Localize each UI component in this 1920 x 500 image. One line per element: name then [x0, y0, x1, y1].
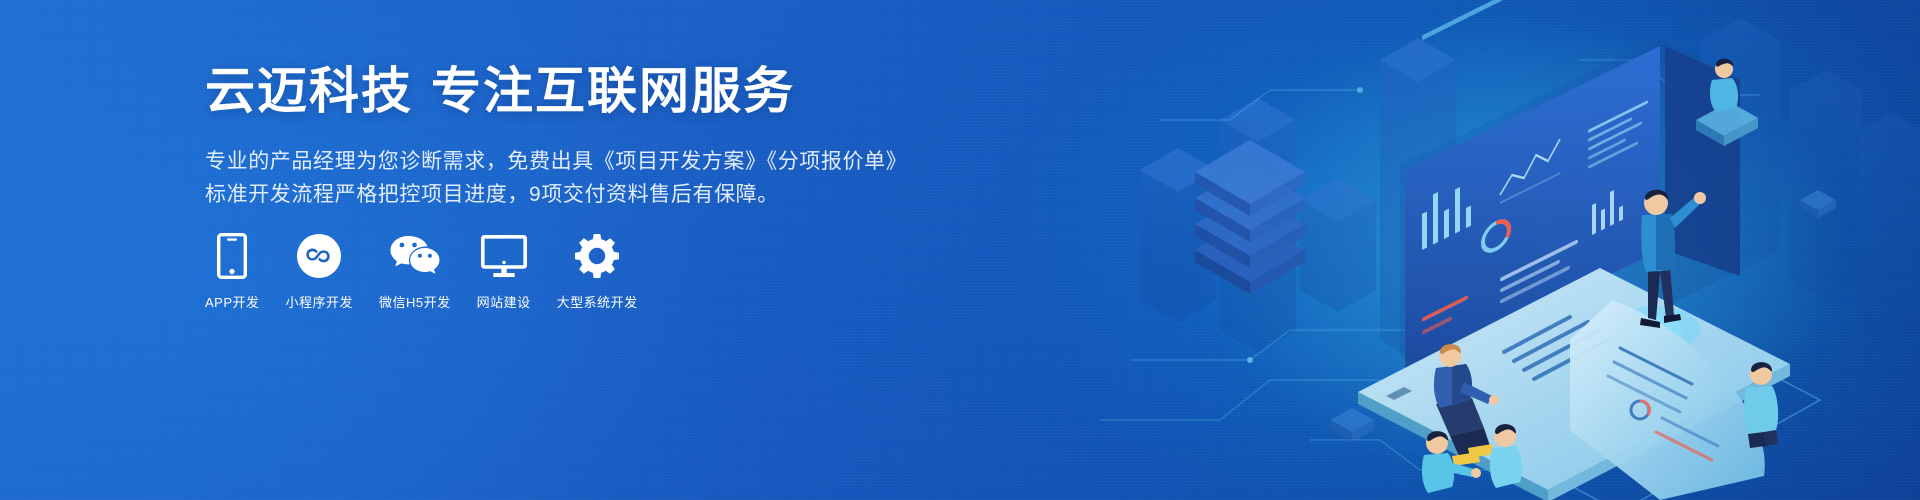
service-label: 大型系统开发	[557, 296, 638, 309]
service-label: 网站建设	[477, 296, 531, 309]
subtitle-line-1: 专业的产品经理为您诊断需求，免费出具《项目开发方案》《分项报价单》	[205, 145, 905, 178]
promo-banner: 云迈科技专注互联网服务 专业的产品经理为您诊断需求，免费出具《项目开发方案》《分…	[0, 0, 1920, 500]
desktop-monitor-icon	[481, 232, 527, 280]
service-label: 小程序开发	[286, 296, 354, 309]
banner-copy: 云迈科技专注互联网服务 专业的产品经理为您诊断需求，免费出具《项目开发方案》《分…	[205, 62, 905, 211]
mini-program-icon	[297, 232, 341, 280]
service-item-app[interactable]: APP开发	[205, 232, 260, 309]
subtitle-line-2: 标准开发流程严格把控项目进度，9项交付资料售后有保障。	[205, 178, 905, 211]
service-item-website[interactable]: 网站建设	[477, 232, 531, 309]
banner-subtitle: 专业的产品经理为您诊断需求，免费出具《项目开发方案》《分项报价单》 标准开发流程…	[205, 145, 905, 211]
service-label: 微信H5开发	[379, 296, 451, 309]
server-stack	[1195, 140, 1305, 294]
service-item-wechat-h5[interactable]: 微信H5开发	[379, 232, 451, 309]
isometric-tech-illustration	[1100, 0, 1920, 500]
headline-tagline: 专注互联网服务	[431, 63, 795, 119]
page-title: 云迈科技专注互联网服务	[205, 62, 905, 121]
gear-icon	[575, 232, 619, 280]
service-item-mini-program[interactable]: 小程序开发	[286, 232, 354, 309]
service-label: APP开发	[205, 296, 260, 309]
service-list: APP开发 小程序开发 微信H5开发	[205, 232, 638, 309]
service-item-large-system[interactable]: 大型系统开发	[557, 232, 638, 309]
wechat-icon	[390, 232, 440, 280]
mobile-phone-icon	[217, 232, 247, 280]
headline-brand: 云迈科技	[205, 63, 413, 119]
